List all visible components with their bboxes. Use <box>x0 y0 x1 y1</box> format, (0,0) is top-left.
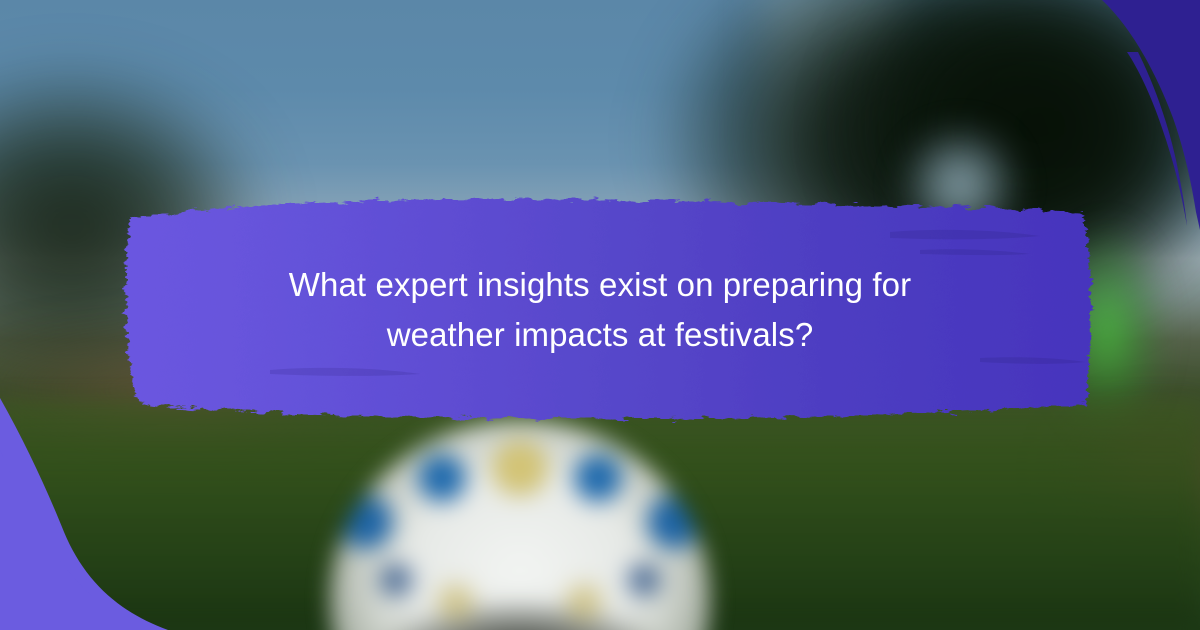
headline-line-2: weather impacts at festivals? <box>387 313 814 357</box>
headline-line-1: What expert insights exist on preparing … <box>289 263 911 307</box>
headline-banner: What expert insights exist on preparing … <box>100 190 1100 430</box>
soccer-ball-icon <box>330 420 710 630</box>
social-card: What expert insights exist on preparing … <box>0 0 1200 630</box>
soccer-ball-body <box>330 420 710 630</box>
headline-text-block: What expert insights exist on preparing … <box>100 190 1100 430</box>
